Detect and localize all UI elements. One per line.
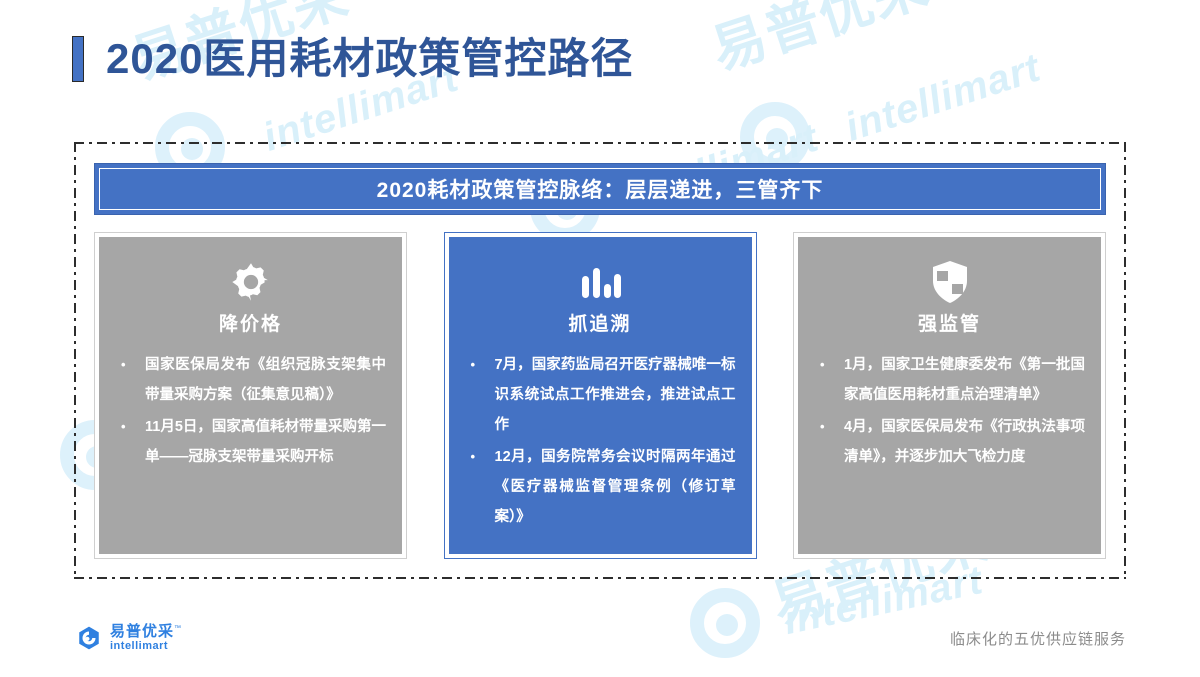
brand-name-en: intellimart bbox=[110, 641, 182, 652]
list-item: 12月，国务院常务会议时隔两年通过《医疗器械监督管理条例（修订草案）》 bbox=[465, 442, 736, 532]
list-item: 11月5日，国家高值耗材带量采购第一单——冠脉支架带量采购开标 bbox=[115, 412, 386, 472]
slide-root: 易普优采™ intellimart 易普优采™ intellimart inte… bbox=[0, 0, 1200, 677]
frame-edge-left bbox=[74, 142, 76, 579]
card-inner: 抓追溯 7月，国家药监局召开医疗器械唯一标识系统试点工作推进会，推进试点工作 1… bbox=[449, 237, 752, 554]
watermark-tm: ™ bbox=[338, 0, 410, 22]
card-price-reduction[interactable]: 降价格 国家医保局发布《组织冠脉支架集中带量采购方案（征集意见稿）》 11月5日… bbox=[94, 232, 407, 559]
list-item: 4月，国家医保局发布《行政执法事项清单》，并逐步加大飞检力度 bbox=[814, 412, 1085, 472]
list-item: 7月，国家药监局召开医疗器械唯一标识系统试点工作推进会，推进试点工作 bbox=[465, 350, 736, 440]
watermark-text: intellimart bbox=[840, 46, 1046, 151]
list-item: 国家医保局发布《组织冠脉支架集中带量采购方案（征集意见稿）》 bbox=[115, 350, 386, 410]
footer-logo: 易普优采™ intellimart bbox=[76, 624, 182, 652]
frame-edge-right bbox=[1124, 142, 1126, 579]
frame-edge-top bbox=[74, 142, 1126, 144]
card-supervision[interactable]: 强监管 1月，国家卫生健康委发布《第一批国家高值医用耗材重点治理清单》 4月，国… bbox=[793, 232, 1106, 559]
title-accent-bar bbox=[72, 36, 84, 82]
brand-logo-text: 易普优采™ intellimart bbox=[110, 624, 182, 652]
bar-chart-icon bbox=[465, 259, 736, 305]
page-title: 2020医用耗材政策管控路径 bbox=[72, 36, 633, 82]
card-bullet-list: 国家医保局发布《组织冠脉支架集中带量采购方案（征集意见稿）》 11月5日，国家高… bbox=[115, 350, 386, 474]
card-traceability[interactable]: 抓追溯 7月，国家药监局召开医疗器械唯一标识系统试点工作推进会，推进试点工作 1… bbox=[444, 232, 757, 559]
banner: 2020耗材政策管控脉络：层层递进，三管齐下 bbox=[94, 163, 1106, 215]
gear-icon bbox=[115, 259, 386, 305]
title-text: 2020医用耗材政策管控路径 bbox=[106, 38, 633, 80]
card-title: 抓追溯 bbox=[465, 309, 736, 336]
card-title: 降价格 bbox=[115, 309, 386, 336]
watermark-en: intellimart bbox=[840, 46, 1046, 150]
card-bullet-list: 1月，国家卫生健康委发布《第一批国家高值医用耗材重点治理清单》 4月，国家医保局… bbox=[814, 350, 1085, 474]
card-inner: 降价格 国家医保局发布《组织冠脉支架集中带量采购方案（征集意见稿）》 11月5日… bbox=[99, 237, 402, 554]
watermark-cn: 易普优采 bbox=[705, 0, 937, 81]
brand-logo-icon bbox=[76, 625, 102, 651]
banner-text: 2020耗材政策管控脉络：层层递进，三管齐下 bbox=[377, 174, 824, 204]
card-row: 降价格 国家医保局发布《组织冠脉支架集中带量采购方案（征集意见稿）》 11月5日… bbox=[94, 232, 1106, 559]
card-title: 强监管 bbox=[814, 309, 1085, 336]
list-item: 1月，国家卫生健康委发布《第一批国家高值医用耗材重点治理清单》 bbox=[814, 350, 1085, 410]
watermark-logo-icon bbox=[690, 588, 760, 658]
watermark-text: 易普优采™ bbox=[700, 0, 991, 85]
footer-tagline: 临床化的五优供应链服务 bbox=[950, 628, 1126, 649]
shield-icon bbox=[814, 259, 1085, 305]
watermark-tm: ™ bbox=[918, 0, 990, 12]
card-bullet-list: 7月，国家药监局召开医疗器械唯一标识系统试点工作推进会，推进试点工作 12月，国… bbox=[465, 350, 736, 534]
banner-inner: 2020耗材政策管控脉络：层层递进，三管齐下 bbox=[99, 168, 1101, 210]
frame-edge-bottom bbox=[74, 577, 1126, 579]
card-inner: 强监管 1月，国家卫生健康委发布《第一批国家高值医用耗材重点治理清单》 4月，国… bbox=[798, 237, 1101, 554]
brand-name-cn-text: 易普优采 bbox=[110, 623, 174, 640]
brand-name-cn: 易普优采™ bbox=[110, 624, 182, 639]
trademark-symbol: ™ bbox=[174, 625, 182, 632]
